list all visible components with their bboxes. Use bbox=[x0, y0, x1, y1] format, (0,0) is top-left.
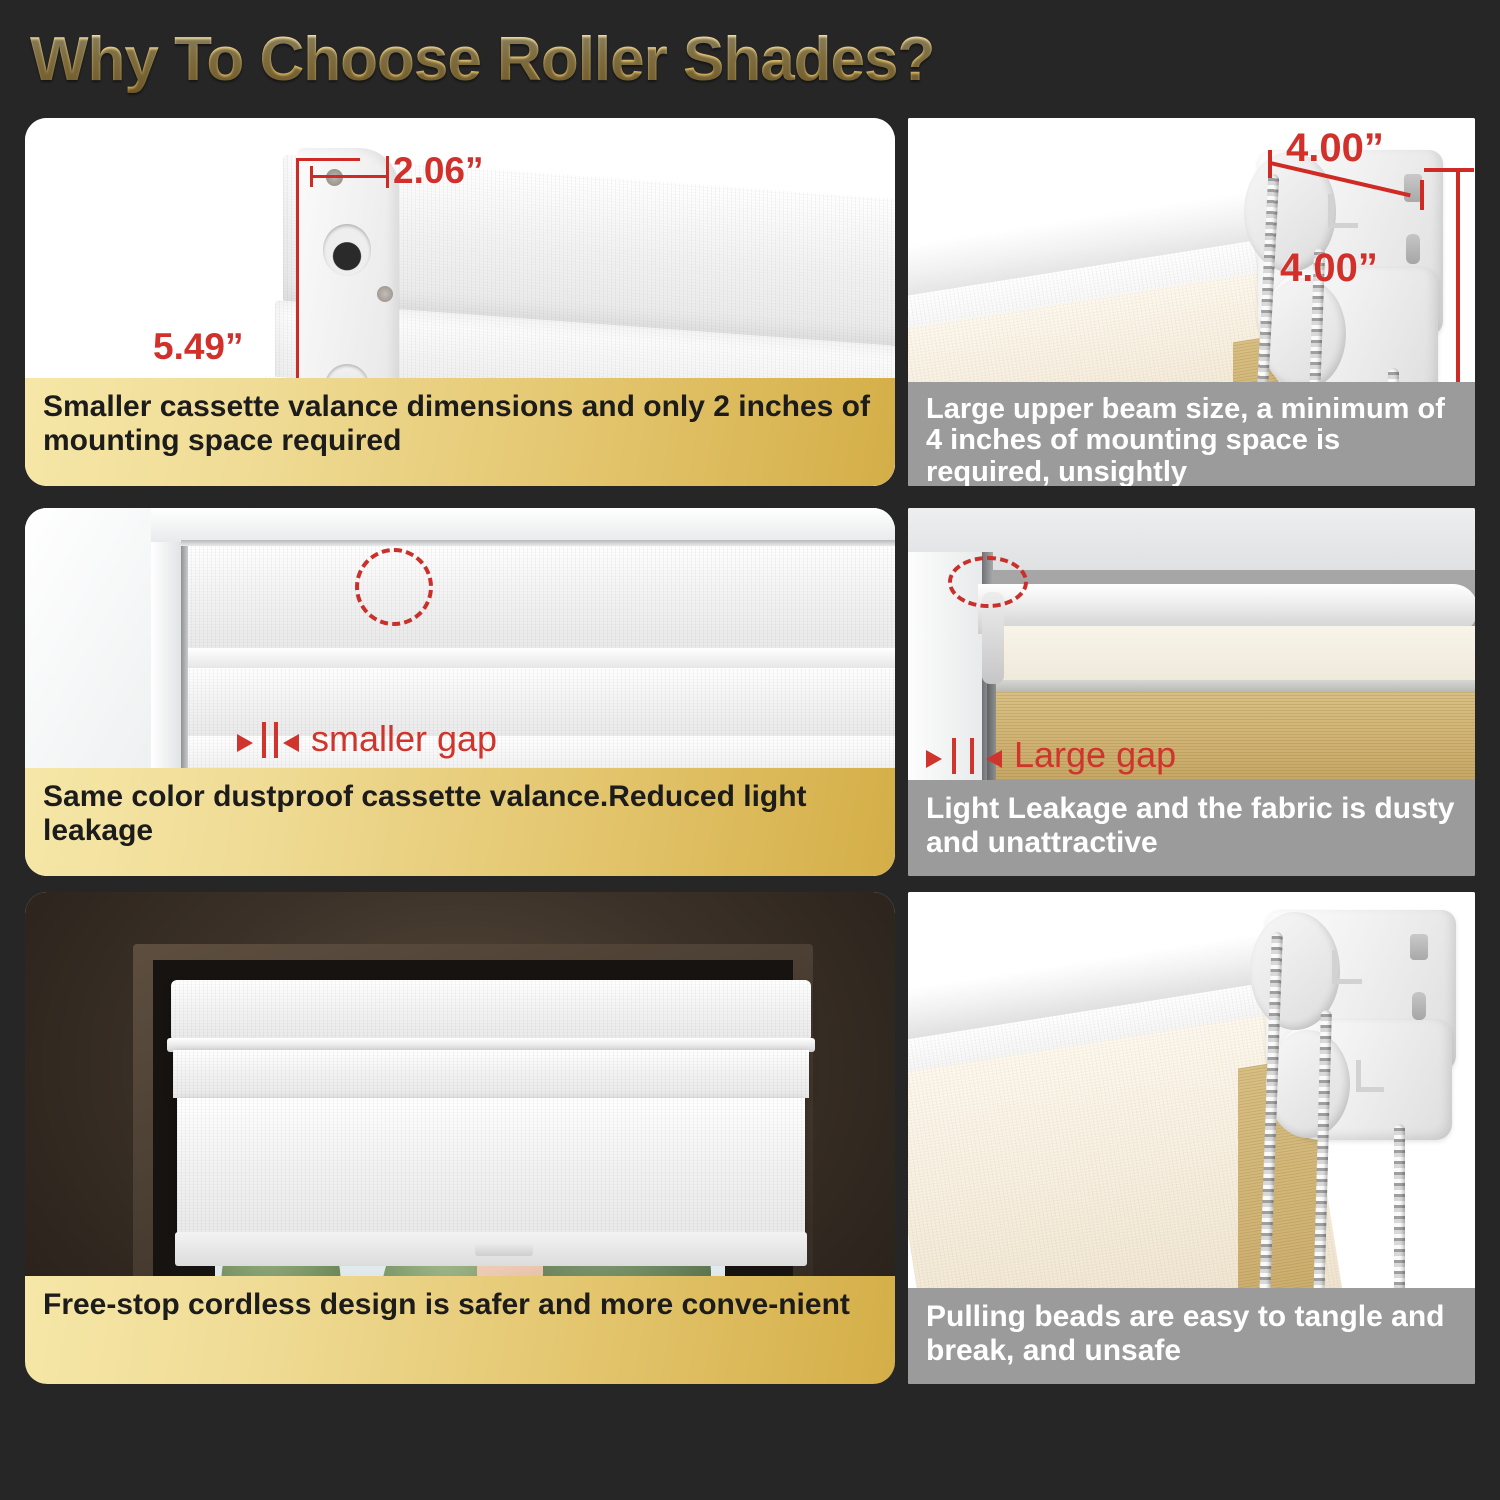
bracket-height-label: 4.00” bbox=[1280, 246, 1378, 291]
panel-cassette-dimensions: 2.06” 5.49” Smaller cassette valance dim… bbox=[25, 118, 895, 486]
gap-tick-left bbox=[952, 738, 956, 774]
valance-seam-highlight-circle bbox=[355, 548, 433, 626]
panel-3-caption: Same color dustproof cassette valance.Re… bbox=[25, 768, 895, 876]
panel-large-gap: Large gap Light Leakage and the fabric i… bbox=[908, 508, 1475, 876]
valance-strip-cream bbox=[988, 626, 1475, 682]
width-dim-tick-left bbox=[310, 166, 313, 187]
bracket-height-dim-line bbox=[1456, 168, 1460, 396]
gap-callout-label: smaller gap bbox=[311, 718, 497, 760]
cassette-valance bbox=[171, 980, 811, 1042]
cassette-valance-front bbox=[183, 544, 895, 652]
width-dim-tick-right bbox=[386, 156, 389, 188]
panel-5-caption: Free-stop cordless design is safer and m… bbox=[25, 1276, 895, 1384]
gap-tick-right bbox=[274, 722, 278, 758]
window-frame-top-rail bbox=[151, 508, 895, 542]
cassette-clutch-knob bbox=[323, 224, 371, 276]
panel-4-caption: Light Leakage and the fabric is dusty an… bbox=[908, 780, 1475, 876]
bracket-hook-icon bbox=[1332, 950, 1362, 984]
panel-1-caption: Smaller cassette valance dimensions and … bbox=[25, 378, 895, 486]
gap-callout-label: Large gap bbox=[1014, 734, 1176, 776]
infographic-root: Why To Choose Roller Shades? 2.06” 5.49” bbox=[0, 0, 1500, 1500]
gap-arrow-left bbox=[237, 734, 253, 752]
panel-pulling-beads: Pulling beads are easy to tangle and bre… bbox=[908, 892, 1475, 1384]
bracket-height-tick-top bbox=[1424, 168, 1474, 172]
gap-arrow-right bbox=[986, 750, 1002, 768]
bracket-slot-mid bbox=[1406, 234, 1420, 264]
shade-roller-front bbox=[185, 668, 895, 740]
shade-left-edge-shadow bbox=[181, 544, 188, 798]
valance-bottom-lip bbox=[181, 648, 895, 670]
page-title: Why To Choose Roller Shades? bbox=[30, 24, 934, 95]
panel-2-caption: Large upper beam size, a minimum of 4 in… bbox=[908, 382, 1475, 486]
gap-arrow-right bbox=[283, 734, 299, 752]
gap-arrow-left bbox=[926, 750, 942, 768]
panel-large-beam: 4.00” 4.00” Large upper beam size, a min… bbox=[908, 118, 1475, 486]
panel-small-gap: smaller gap Same color dustproof cassett… bbox=[25, 508, 895, 876]
bracket-width-tick-left bbox=[1268, 150, 1272, 178]
bracket-hook-icon-lower bbox=[1356, 1060, 1384, 1092]
gap-tick-left bbox=[262, 722, 266, 758]
bracket-slot-mid bbox=[1412, 992, 1426, 1020]
bracket-width-tick-right bbox=[1420, 180, 1424, 210]
gap-tick-right bbox=[970, 738, 974, 774]
valance-top-seam bbox=[181, 540, 895, 546]
width-dimension-label: 2.06” bbox=[393, 150, 484, 192]
width-dim-line bbox=[311, 175, 389, 178]
valance-underside bbox=[988, 680, 1475, 692]
panel-6-caption: Pulling beads are easy to tangle and bre… bbox=[908, 1288, 1475, 1384]
shade-pull-tab[interactable] bbox=[475, 1244, 533, 1256]
cassette-screw-mid bbox=[377, 286, 393, 302]
panel-cordless-design: Free-stop cordless design is safer and m… bbox=[25, 892, 895, 1384]
gap-highlight-circle bbox=[948, 556, 1028, 608]
roller-shade-fabric bbox=[173, 1050, 809, 1098]
height-dim-tick-top bbox=[296, 158, 360, 161]
height-dimension-label: 5.49” bbox=[153, 326, 244, 368]
bracket-hook-icon bbox=[1328, 194, 1358, 228]
bracket-width-label: 4.00” bbox=[1286, 126, 1384, 171]
roller-shade-main bbox=[177, 1098, 805, 1236]
bracket-slot-top bbox=[1410, 934, 1428, 960]
